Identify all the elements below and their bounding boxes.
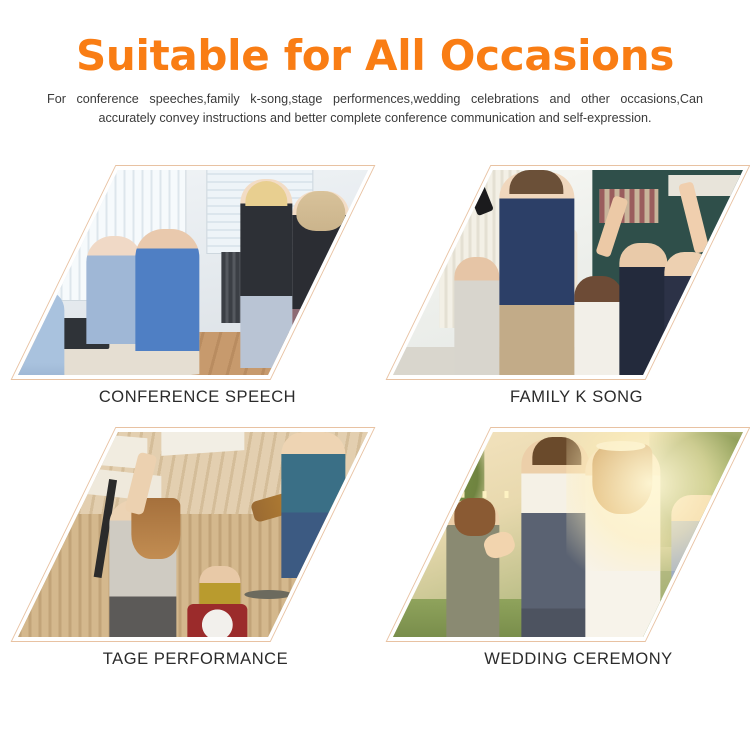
page-subtitle: For conference speeches,family k-song,st…: [47, 90, 703, 128]
photo-frame: [11, 165, 376, 380]
photo-clip: [18, 432, 368, 637]
occasion-panel-wedding-ceremony[interactable]: WEDDING CEREMONY: [375, 422, 750, 690]
occasion-panel-stage-performance[interactable]: TAGE PERFORMANCE: [0, 422, 375, 690]
photo-frame: [11, 427, 376, 642]
occasion-panel-conference-speech[interactable]: CONFERENCE SPEECH: [0, 160, 375, 428]
wedding-ceremony-photo: [393, 432, 743, 637]
panel-caption: TAGE PERFORMANCE: [0, 650, 383, 669]
panel-caption: FAMILY K SONG: [375, 388, 750, 407]
occasion-panel-family-k-song[interactable]: FAMILY K SONG: [375, 160, 750, 428]
family-k-song-photo: [393, 170, 743, 375]
page-title: Suitable for All Occasions: [0, 34, 750, 78]
page-header: Suitable for All Occasions For conferenc…: [0, 0, 750, 128]
panel-caption: WEDDING CEREMONY: [375, 650, 750, 669]
photo-clip: [18, 170, 368, 375]
stage-performance-photo: [18, 432, 368, 637]
conference-speech-photo: [18, 170, 368, 375]
panel-caption: CONFERENCE SPEECH: [0, 388, 385, 407]
occasion-panel-grid: CONFERENCE SPEECH: [0, 160, 750, 720]
photo-clip: [393, 170, 743, 375]
photo-clip: [393, 432, 743, 637]
photo-frame: [386, 427, 750, 642]
subtitle-container: For conference speeches,family k-song,st…: [47, 90, 703, 128]
photo-frame: [386, 165, 750, 380]
